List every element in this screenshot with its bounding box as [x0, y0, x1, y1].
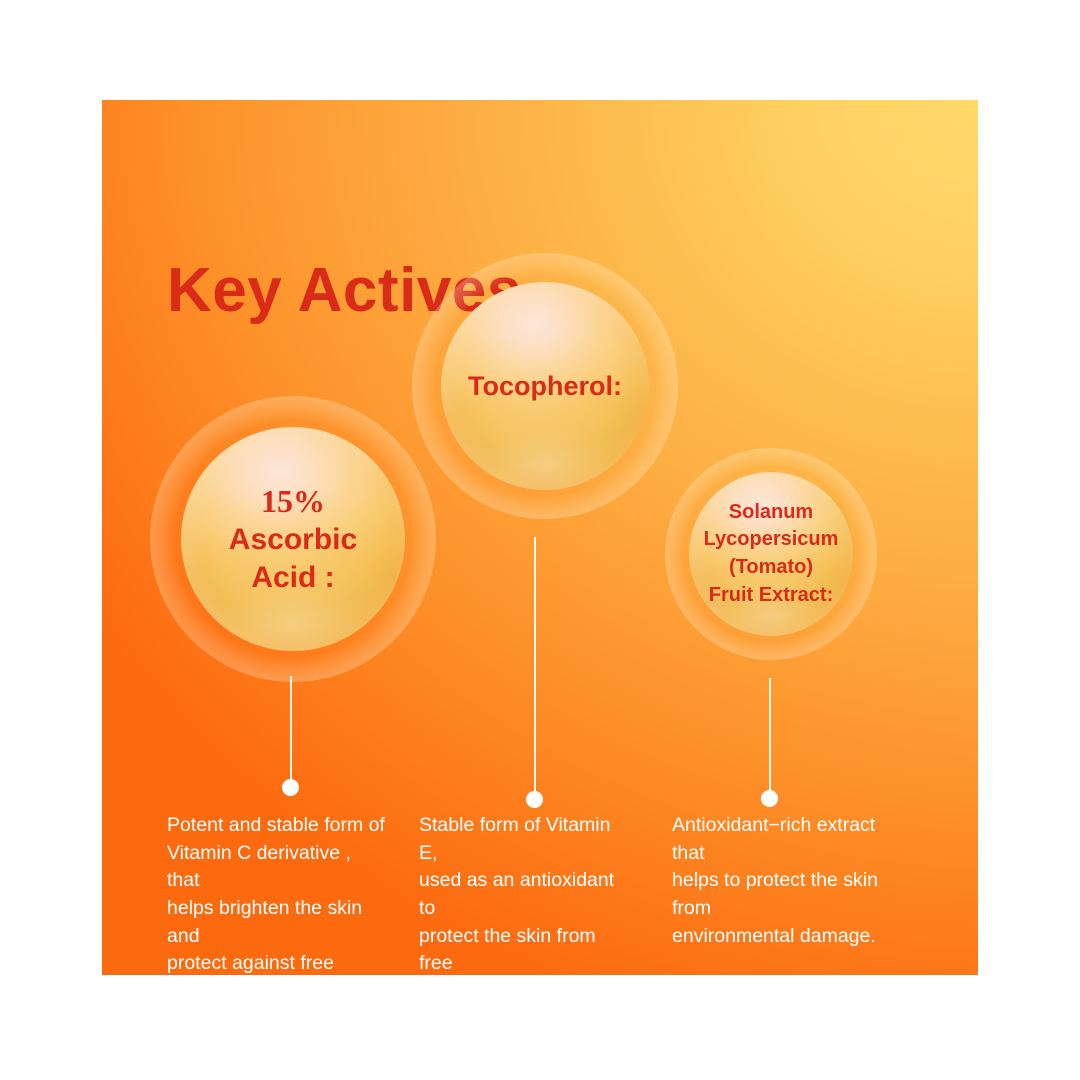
connector-line-ascorbic-acid — [290, 676, 292, 787]
connector-dot-tomato-fruit-extract — [761, 790, 778, 807]
ingredient-description-tocopherol: Stable form of Vitamin E, used as an ant… — [419, 812, 629, 975]
bubble-sheen-icon — [689, 472, 853, 636]
bubble-sheen-icon — [181, 427, 405, 651]
connector-dot-tocopherol — [526, 791, 543, 808]
key-actives-panel: Key Actives 15% Ascorbic Acid : Tocopher… — [102, 100, 978, 975]
connector-dot-ascorbic-acid — [282, 779, 299, 796]
connector-line-tocopherol — [534, 537, 536, 799]
ingredient-description-tomato-fruit-extract: Antioxidant−rich extract that helps to p… — [672, 812, 907, 950]
ingredient-description-ascorbic-acid: Potent and stable form of Vitamin C deri… — [167, 812, 385, 975]
connector-line-tomato-fruit-extract — [769, 678, 771, 798]
bubble-sheen-icon — [441, 282, 649, 490]
ingredient-bubble-tomato-fruit-extract[interactable]: Solanum Lycopersicum (Tomato) Fruit Extr… — [665, 448, 877, 660]
ingredient-bubble-ascorbic-acid[interactable]: 15% Ascorbic Acid : — [150, 396, 436, 682]
ingredient-bubble-tocopherol[interactable]: Tocopherol: — [412, 253, 678, 519]
